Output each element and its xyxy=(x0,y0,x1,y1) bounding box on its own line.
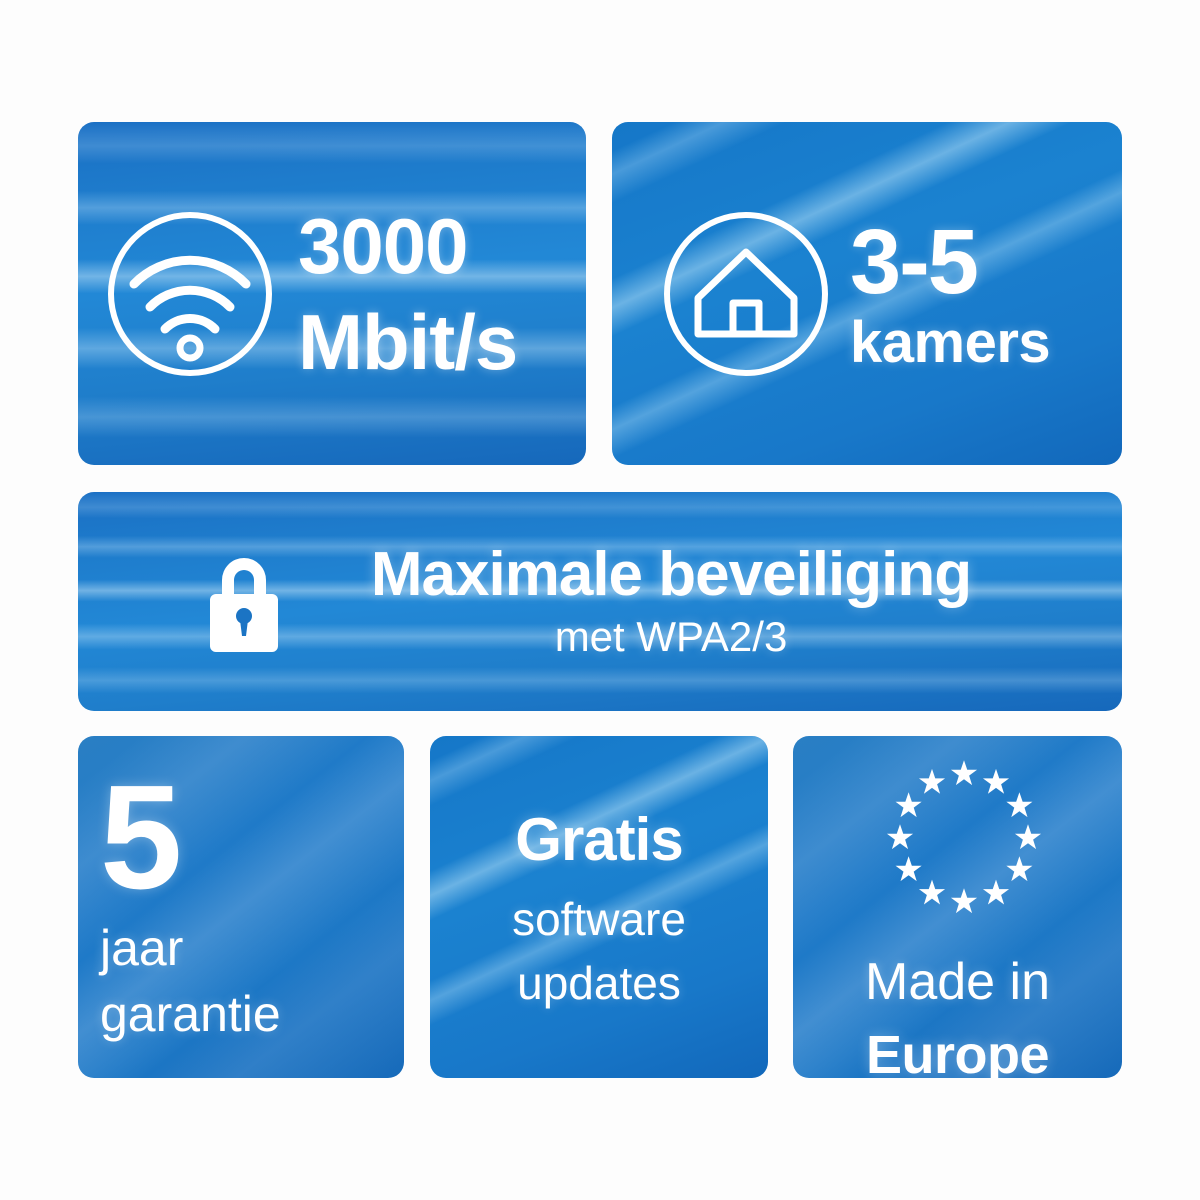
rooms-label: kamers xyxy=(850,314,1050,372)
rooms-range: 3-5 xyxy=(850,216,1050,308)
card-security: Maximale beveiliging met WPA2/3 xyxy=(78,492,1122,711)
card-speed: 3000 Mbit/s xyxy=(78,122,586,465)
card-updates: Gratis software updates xyxy=(430,736,768,1078)
warranty-unit: jaar xyxy=(100,922,382,975)
card-security-text: Maximale beveiliging met WPA2/3 xyxy=(290,542,1052,661)
security-title: Maximale beveiliging xyxy=(290,542,1052,607)
updates-line2: updates xyxy=(517,956,681,1010)
updates-title: Gratis xyxy=(515,805,682,874)
updates-line1: software xyxy=(512,892,686,946)
card-speed-text: 3000 Mbit/s xyxy=(298,207,517,381)
security-subtitle: met WPA2/3 xyxy=(290,613,1052,661)
card-rooms: 3-5 kamers xyxy=(612,122,1122,465)
wifi-icon xyxy=(104,208,276,380)
speed-unit: Mbit/s xyxy=(298,303,517,381)
speed-value: 3000 xyxy=(298,207,517,285)
warranty-years: 5 xyxy=(100,773,382,903)
card-europe: Made in Europe xyxy=(793,736,1122,1078)
lock-icon xyxy=(198,546,290,658)
europe-line2: Europe xyxy=(866,1024,1049,1078)
card-rooms-text: 3-5 kamers xyxy=(850,216,1050,372)
house-icon xyxy=(660,208,832,380)
card-speed-content: 3000 Mbit/s xyxy=(78,122,586,465)
card-warranty-content: 5 jaar garantie xyxy=(78,736,404,1078)
card-updates-content: Gratis software updates xyxy=(430,736,768,1078)
card-security-content: Maximale beveiliging met WPA2/3 xyxy=(78,492,1122,711)
eu-stars-icon xyxy=(869,750,1059,930)
warranty-label: garantie xyxy=(100,988,382,1041)
card-warranty: 5 jaar garantie xyxy=(78,736,404,1078)
card-rooms-content: 3-5 kamers xyxy=(612,122,1122,465)
card-europe-content: Made in Europe xyxy=(793,736,1122,1078)
feature-badge-board: 3000 Mbit/s 3-5 kamers xyxy=(0,0,1200,1200)
europe-line1: Made in xyxy=(865,952,1050,1012)
